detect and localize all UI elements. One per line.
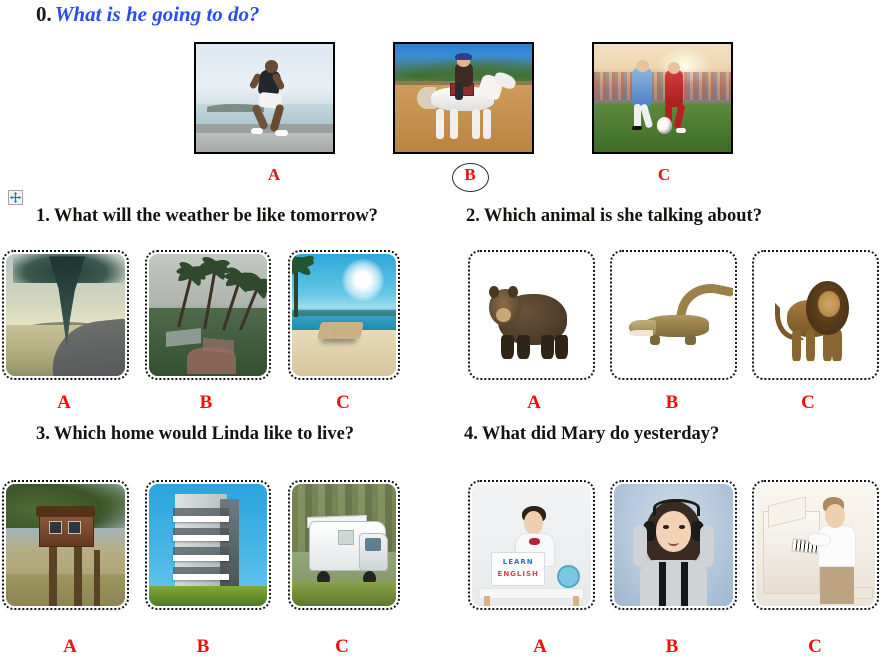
question-3-label-c[interactable]: C — [320, 636, 364, 658]
question-1-option-b[interactable] — [145, 250, 271, 380]
example-question-text: What is he going to do? — [55, 2, 260, 26]
question-4-body: What did Mary do yesterday? — [482, 424, 719, 444]
crocodile-photo — [614, 254, 733, 376]
horse-riding-photo — [395, 44, 532, 152]
question-4-text: 4.What did Mary do yesterday? — [464, 424, 719, 445]
running-man-photo — [196, 44, 333, 152]
question-2-option-a[interactable] — [468, 250, 595, 380]
piano-girl-photo — [756, 484, 875, 606]
example-option-labels: A B C — [0, 165, 885, 195]
tornado-photo — [6, 254, 125, 376]
question-1-text: 1.What will the weather be like tomorrow… — [36, 206, 378, 227]
question-1-label-c[interactable]: C — [321, 392, 365, 414]
question-3-option-b[interactable] — [145, 480, 271, 610]
question-2-number: 2. — [466, 206, 480, 226]
example-option-a-image[interactable] — [194, 42, 335, 154]
learn-sign-line-2: ENGLISH — [492, 570, 544, 578]
question-4-option-a[interactable]: LEARN ENGLISH — [468, 480, 595, 610]
question-2-option-b[interactable] — [610, 250, 737, 380]
question-1-body: What will the weather be like tomorrow? — [54, 206, 378, 226]
move-object-handle-icon[interactable] — [8, 190, 23, 205]
headphones-girl-photo — [614, 484, 733, 606]
question-3-option-c[interactable] — [288, 480, 400, 610]
question-2-text: 2.Which animal is she talking about? — [466, 206, 762, 227]
example-question: 0.What is he going to do? — [36, 2, 260, 27]
lion-photo — [756, 254, 875, 376]
question-3-label-b[interactable]: B — [181, 636, 225, 658]
camper-van-photo — [292, 484, 396, 606]
question-4-label-c[interactable]: C — [793, 636, 837, 658]
question-3-label-a[interactable]: A — [48, 636, 92, 658]
question-2-label-a[interactable]: A — [512, 392, 556, 414]
question-2-option-c[interactable] — [752, 250, 879, 380]
question-1-label-b[interactable]: B — [184, 392, 228, 414]
question-3-text: 3.Which home would Linda like to live? — [36, 424, 354, 445]
question-4-option-c[interactable] — [752, 480, 879, 610]
question-4-number: 4. — [464, 424, 478, 444]
question-4-label-a[interactable]: A — [518, 636, 562, 658]
learn-english-photo: LEARN ENGLISH — [472, 484, 591, 606]
question-4-option-b[interactable] — [610, 480, 737, 610]
question-4-label-b[interactable]: B — [650, 636, 694, 658]
apartment-building-photo — [149, 484, 267, 606]
example-option-label-a[interactable]: A — [254, 165, 294, 185]
question-1-number: 1. — [36, 206, 50, 226]
question-2-label-b[interactable]: B — [650, 392, 694, 414]
example-option-c-image[interactable] — [592, 42, 733, 154]
treehouse-photo — [6, 484, 125, 606]
example-option-b-image[interactable] — [393, 42, 534, 154]
learn-sign-line-1: LEARN — [492, 558, 544, 566]
question-1-option-a[interactable] — [2, 250, 129, 380]
question-1-label-a[interactable]: A — [42, 392, 86, 414]
sunny-beach-photo — [292, 254, 396, 376]
selected-answer-circle — [452, 163, 489, 192]
bear-photo — [472, 254, 591, 376]
soccer-players-photo — [594, 44, 731, 152]
question-3-number: 3. — [36, 424, 50, 444]
example-options-images — [0, 42, 885, 154]
example-question-number: 0. — [36, 2, 52, 26]
question-2-body: Which animal is she talking about? — [484, 206, 762, 226]
example-option-label-c[interactable]: C — [644, 165, 684, 185]
question-1-option-c[interactable] — [288, 250, 400, 380]
storm-palms-photo — [149, 254, 267, 376]
question-2-label-c[interactable]: C — [786, 392, 830, 414]
question-3-option-a[interactable] — [2, 480, 129, 610]
question-3-body: Which home would Linda like to live? — [54, 424, 354, 444]
